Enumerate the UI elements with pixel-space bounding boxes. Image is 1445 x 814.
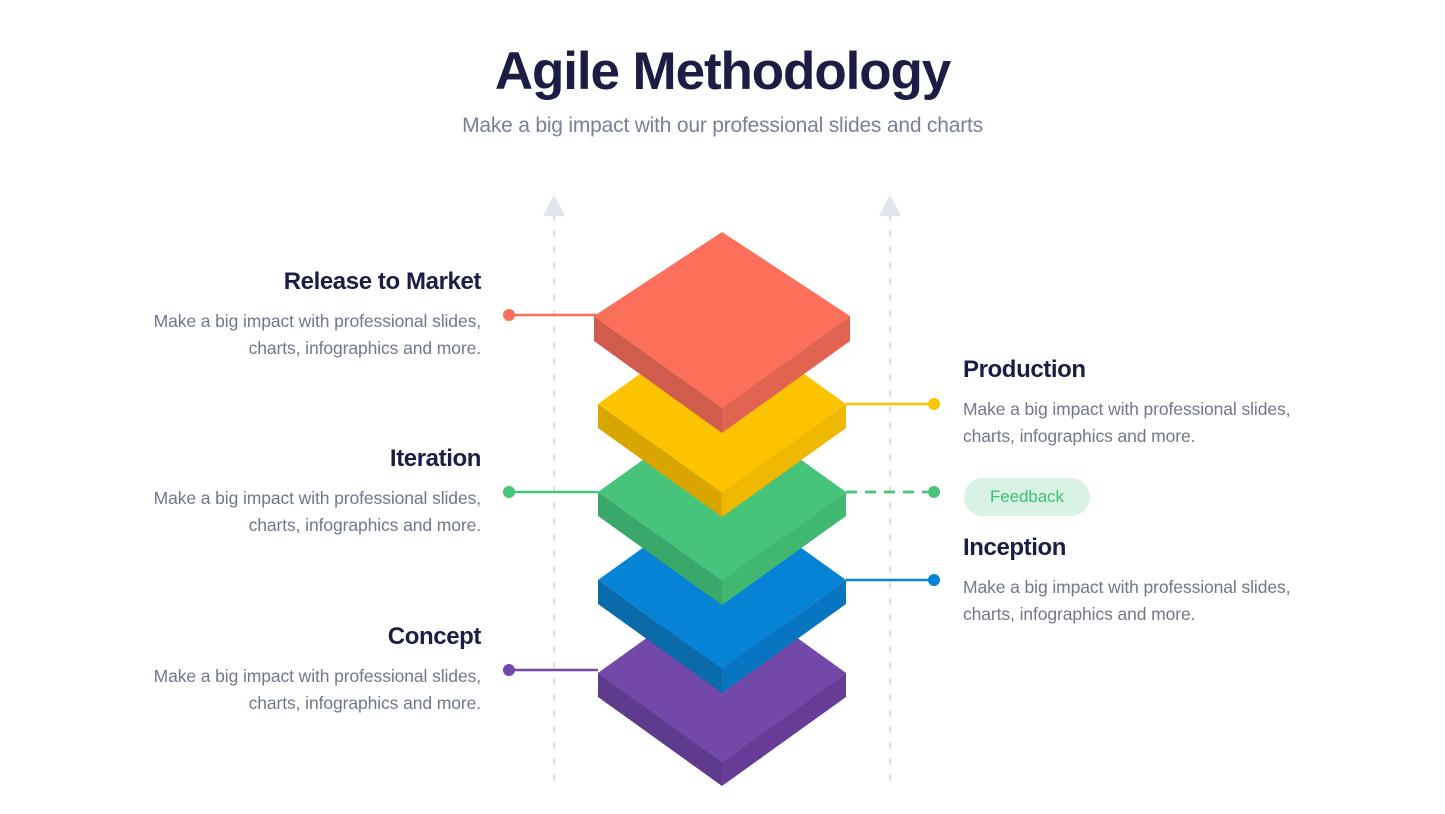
connector-inception [846, 574, 940, 586]
callout-title-concept: Concept [141, 623, 481, 652]
callout-body-production: Make a big impact with professional slid… [963, 396, 1303, 450]
connector-feedback [846, 486, 940, 498]
callout-production[interactable]: Production Make a big impact with profes… [963, 356, 1303, 450]
connector-dot-feedback[interactable] [928, 486, 940, 498]
header: Agile Methodology Make a big impact with… [0, 44, 1445, 138]
callout-body-release: Make a big impact with professional slid… [141, 308, 481, 362]
layer-plate-release[interactable] [594, 232, 850, 433]
callout-body-concept: Make a big impact with professional slid… [141, 663, 481, 717]
slide-canvas: Agile Methodology Make a big impact with… [0, 0, 1445, 814]
callout-title-iteration: Iteration [141, 445, 481, 474]
connector-dot-iteration[interactable] [503, 486, 515, 498]
layer-plate-concept[interactable] [598, 584, 846, 786]
guide-arrow-right-icon [879, 195, 901, 216]
guide-arrow-left-icon [543, 195, 565, 216]
connector-dot-release[interactable] [503, 309, 515, 321]
callout-title-production: Production [963, 356, 1303, 385]
layer-plate-inception[interactable] [598, 491, 846, 693]
connector-release [503, 309, 598, 321]
callout-body-iteration: Make a big impact with professional slid… [141, 485, 481, 539]
connector-iteration [503, 486, 598, 498]
callout-title-inception: Inception [963, 534, 1303, 563]
callout-release-to-market[interactable]: Release to Market Make a big impact with… [141, 268, 481, 362]
page-title: Agile Methodology [0, 44, 1445, 100]
callout-title-release: Release to Market [141, 268, 481, 297]
connector-dot-production[interactable] [928, 398, 940, 410]
connector-concept [503, 664, 598, 676]
callout-concept[interactable]: Concept Make a big impact with professio… [141, 623, 481, 717]
layer-plate-iteration[interactable] [598, 403, 846, 605]
connector-dot-inception[interactable] [928, 574, 940, 586]
callout-body-inception: Make a big impact with professional slid… [963, 574, 1303, 628]
callout-iteration[interactable]: Iteration Make a big impact with profess… [141, 445, 481, 539]
status-badge-feedback[interactable]: Feedback [964, 478, 1090, 516]
layer-plate-production[interactable] [598, 315, 846, 517]
connector-production [846, 398, 940, 410]
page-subtitle: Make a big impact with our professional … [0, 114, 1445, 138]
callout-inception[interactable]: Inception Make a big impact with profess… [963, 534, 1303, 628]
connector-dot-concept[interactable] [503, 664, 515, 676]
